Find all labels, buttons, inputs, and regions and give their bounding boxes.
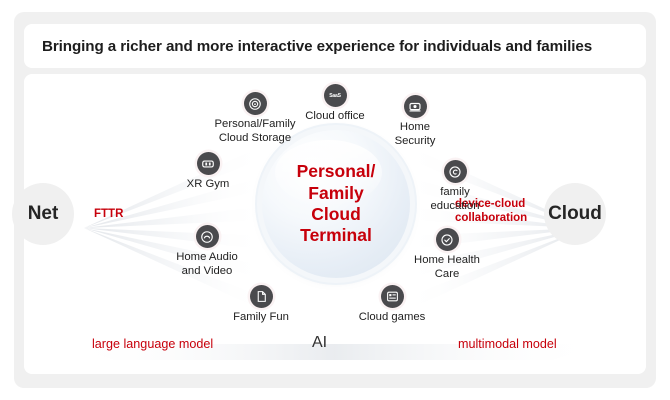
node-label-cloud-games: Cloud games (359, 311, 426, 325)
center-line-4: Terminal (300, 225, 372, 246)
center-line-2: Family (308, 183, 363, 204)
endpoint-label-net: Net (28, 203, 59, 225)
center-line-1: Personal/ (297, 161, 376, 182)
game-list-icon (381, 285, 404, 308)
bottom-label-multimodal-model: multimodal model (458, 337, 557, 351)
node-family-fun[interactable]: Family Fun (201, 285, 321, 325)
beam-label-fttr: FTTR (94, 207, 123, 221)
node-label-family-fun: Family Fun (233, 311, 289, 325)
beam-label-dcc-line2: collaboration (455, 211, 527, 225)
check-badge-icon (436, 228, 459, 251)
node-home-security[interactable]: Home Security (355, 95, 475, 148)
media-play-icon (196, 225, 219, 248)
title-card: Bringing a richer and more interactive e… (24, 24, 646, 68)
node-personal-family-cloud-storage[interactable]: Personal/Family Cloud Storage (195, 92, 315, 145)
bottom-label-ai: AI (312, 334, 327, 352)
vr-headset-icon (197, 152, 220, 175)
node-label-home-health-care: Home Health Care (414, 254, 480, 281)
node-label-xr-gym: XR Gym (187, 178, 230, 192)
node-home-health-care[interactable]: Home Health Care (387, 228, 507, 281)
saas-icon: SaaS (324, 84, 347, 107)
education-cloud-icon (444, 160, 467, 183)
camera-icon (404, 95, 427, 118)
endpoint-label-cloud: Cloud (548, 203, 602, 225)
endpoint-bubble-cloud[interactable]: Cloud (544, 183, 606, 245)
node-cloud-games[interactable]: Cloud games (332, 285, 452, 325)
center-line-3: Cloud (311, 204, 361, 225)
bottom-label-large-language-model: large language model (92, 337, 213, 351)
page-title: Bringing a richer and more interactive e… (42, 38, 592, 55)
node-home-audio-video[interactable]: Home Audio and Video (147, 225, 267, 278)
document-icon (250, 285, 273, 308)
node-label-home-audio-video: Home Audio and Video (176, 251, 238, 278)
node-family-education[interactable]: family education (395, 160, 515, 213)
node-label-personal-family-cloud-storage: Personal/Family Cloud Storage (215, 118, 296, 145)
node-label-home-security: Home Security (395, 121, 436, 148)
cloud-storage-icon (244, 92, 267, 115)
endpoint-bubble-net[interactable]: Net (12, 183, 74, 245)
node-xr-gym[interactable]: XR Gym (148, 152, 268, 192)
node-label-family-education: family education (431, 186, 480, 213)
